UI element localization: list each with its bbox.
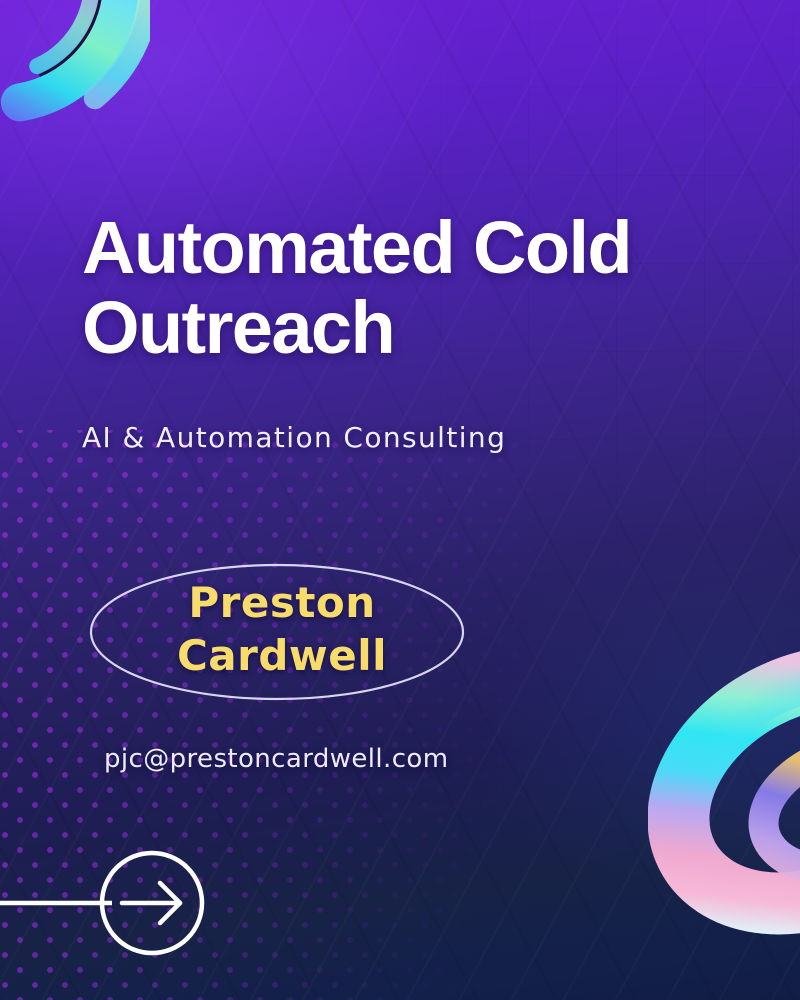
page-title: Automated Cold Outreach	[82, 208, 742, 368]
presenter-name: PrestonCardwell	[82, 576, 482, 682]
poster-canvas: Automated Cold Outreach AI & Automation …	[0, 0, 800, 1000]
arrow-right-icon	[122, 883, 180, 923]
subtitle: AI & Automation Consulting	[82, 420, 506, 456]
presenter-name-line-1: Preston	[188, 578, 375, 627]
presenter-name-line-2: Cardwell	[177, 631, 387, 680]
content-layer: Automated Cold Outreach AI & Automation …	[0, 0, 800, 1000]
name-badge: PrestonCardwell	[88, 562, 466, 702]
contact-email[interactable]: pjc@prestoncardwell.com	[104, 742, 448, 776]
next-arrow-button[interactable]	[0, 846, 220, 962]
